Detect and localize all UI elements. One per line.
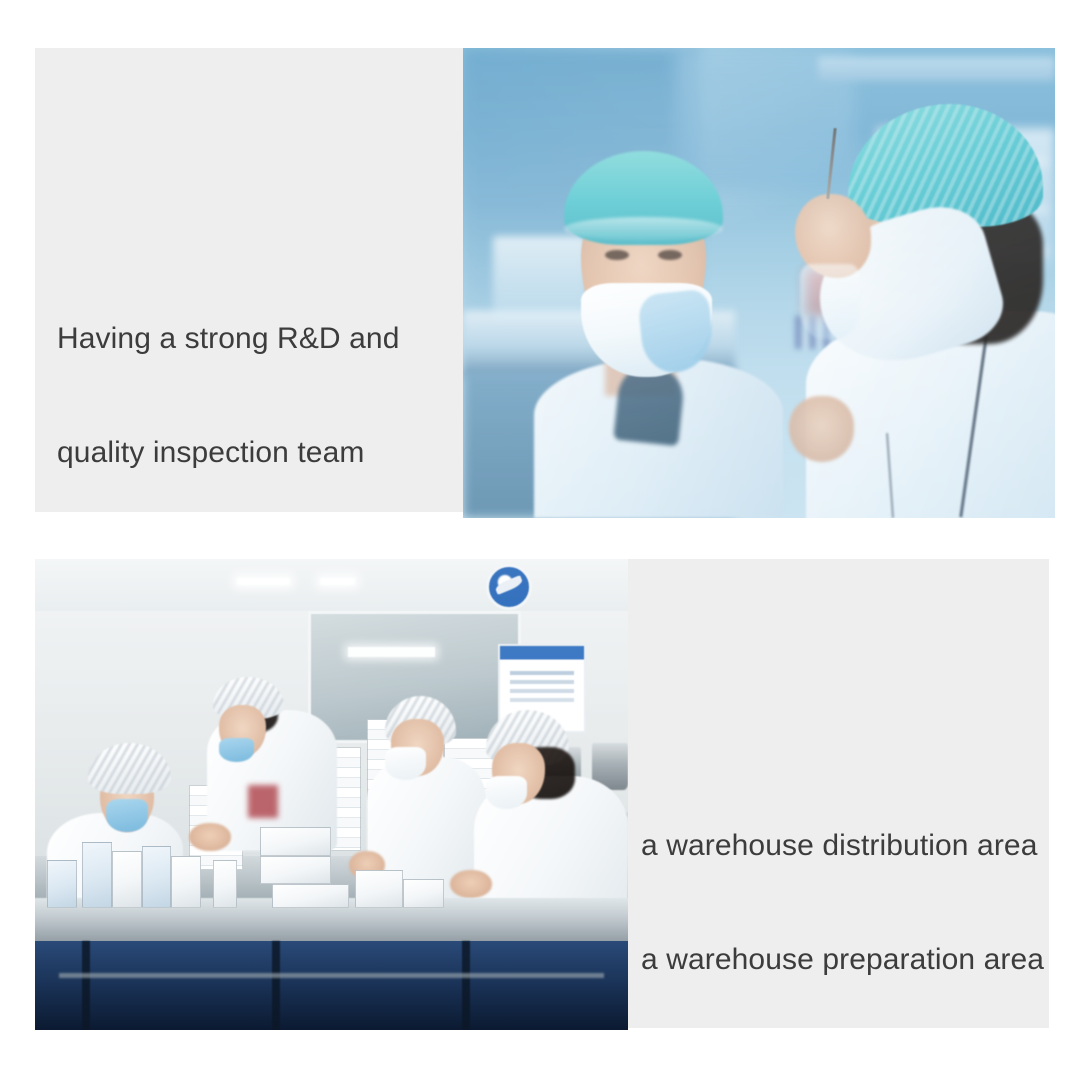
warehouse-worker-4-face-mask (486, 776, 528, 809)
warehouse-window-light (348, 647, 435, 657)
warehouse-worker-2-hand (189, 823, 231, 851)
warehouse-circular-sign-icon (486, 564, 532, 610)
lab-sample-flask (800, 264, 859, 339)
warehouse-sign-swoosh (494, 575, 524, 595)
warehouse-table-leg-2 (272, 941, 280, 1030)
warehouse-carton-1 (82, 842, 112, 908)
warehouse-table-leg-1 (82, 941, 90, 1030)
warehouse-carton-10 (403, 879, 445, 907)
lab-lower-hand (789, 396, 854, 462)
warehouse-carton-9 (355, 870, 402, 908)
lab-quality-inspection-photo (463, 48, 1055, 518)
warehouse-carton-11 (47, 860, 77, 907)
rd-caption-text: Having a strong R&D and quality inspecti… (57, 244, 457, 548)
rd-caption-line-1: Having a strong R&D and (57, 320, 457, 358)
warehouse-poster-text-lines (510, 671, 575, 674)
warehouse-carton-2 (112, 851, 142, 908)
warehouse-carton-3 (142, 846, 172, 907)
warehouse-worker-4-hand (450, 870, 492, 898)
warehouse-worker-1-face-mask (106, 799, 148, 832)
warehouse-packing-photo (35, 559, 628, 1030)
warehouse-carton-5 (213, 860, 237, 907)
warehouse-table-underside (35, 941, 628, 1030)
warehouse-worker-2-face-mask (219, 738, 255, 762)
warehouse-table-cross-bar (59, 973, 605, 978)
warehouse-ceiling (35, 559, 628, 616)
warehouse-table-leg-3 (462, 941, 470, 1030)
lab-worker-1-hairnet-band (564, 217, 724, 241)
warehouse-ceiling-light-2 (320, 578, 356, 585)
rd-caption-line-2: quality inspection team (57, 434, 457, 472)
warehouse-carton-6 (260, 827, 331, 855)
warehouse-worker-2-red-item (248, 785, 278, 818)
warehouse-carton-8 (272, 884, 349, 908)
lab-glassware-left (493, 236, 588, 321)
warehouse-ceiling-light-1 (237, 578, 290, 585)
warehouse-carton-4 (171, 856, 201, 908)
lab-overhead-shelf (818, 57, 1055, 81)
page-canvas: Having a strong R&D and quality inspecti… (0, 0, 1080, 1080)
warehouse-caption-line-1: a warehouse distribution area (641, 827, 1041, 865)
warehouse-caption-text: a warehouse distribution area a warehous… (641, 751, 1041, 1055)
warehouse-carton-7 (260, 856, 331, 884)
warehouse-caption-line-2: a warehouse preparation area (641, 941, 1041, 979)
